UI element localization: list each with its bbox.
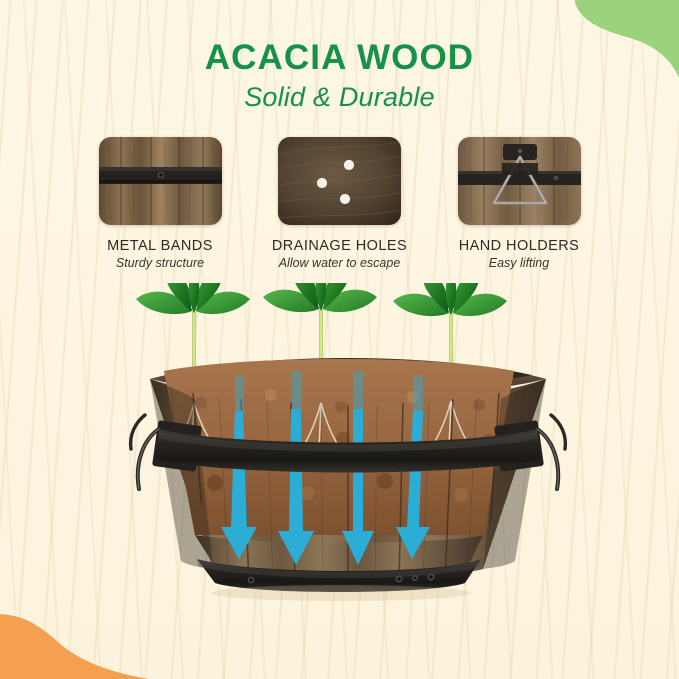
feature-title: HAND HOLDERS <box>459 238 580 254</box>
hero-planter-illustration <box>0 283 679 643</box>
feature-title: METAL BANDS <box>107 238 213 254</box>
feature-subtitle: Easy lifting <box>489 256 549 270</box>
feature-title: DRAINAGE HOLES <box>272 238 407 254</box>
hand-holder-photo-icon <box>458 137 581 225</box>
feature-subtitle: Sturdy structure <box>116 256 204 270</box>
feature-card-metal-bands: METAL BANDS Sturdy structure <box>78 137 242 270</box>
feature-card-hand-holders: HAND HOLDERS Easy lifting <box>437 137 601 270</box>
feature-card-drainage-holes: DRAINAGE HOLES Allow water to escape <box>258 137 422 270</box>
feature-card-list: METAL BANDS Sturdy structure <box>78 137 601 270</box>
drainage-holes-photo-icon <box>278 137 401 225</box>
page-subtitle: Solid & Durable <box>0 82 679 113</box>
feature-subtitle: Allow water to escape <box>279 256 401 270</box>
header: ACACIA WOOD Solid & Durable <box>0 40 679 113</box>
page-title: ACACIA WOOD <box>0 40 679 77</box>
metal-band-photo-icon <box>99 137 222 225</box>
infographic-poster: ACACIA WOOD Solid & Durable <box>0 0 679 679</box>
